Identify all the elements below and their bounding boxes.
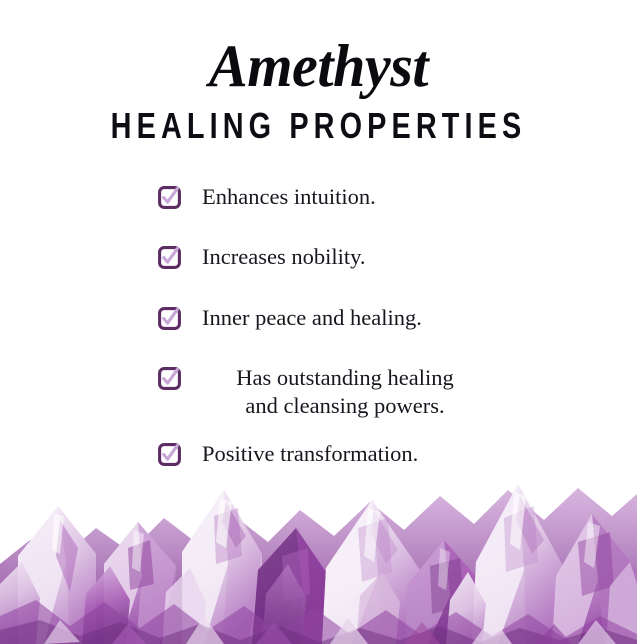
list-item-label: Inner peace and healing. xyxy=(181,304,578,331)
checked-checkbox-icon xyxy=(158,246,181,269)
healing-properties-list: Enhances intuition. Increases nobility. … xyxy=(158,183,578,468)
amethyst-crystal-cluster-image xyxy=(0,444,637,644)
crystal-point-left xyxy=(18,506,96,644)
crystal-point-7 xyxy=(472,484,562,644)
list-item-label: Enhances intuition. xyxy=(181,183,578,210)
list-item-label: Has outstanding healing and cleansing po… xyxy=(181,364,495,419)
checked-checkbox-icon xyxy=(158,186,181,209)
checked-checkbox-icon xyxy=(158,443,181,466)
crystal-lower-facets xyxy=(0,600,637,644)
amethyst-healing-properties-poster: Amethyst HEALING PROPERTIES Enhances int… xyxy=(0,0,637,644)
list-item: Inner peace and healing. xyxy=(158,304,578,331)
crystal-point-5 xyxy=(322,500,420,644)
crystal-highlights xyxy=(52,492,600,590)
poster-header: Amethyst HEALING PROPERTIES xyxy=(0,0,637,141)
page-title: Amethyst xyxy=(10,36,628,97)
page-subtitle: HEALING PROPERTIES xyxy=(22,105,614,147)
crystal-point-6 xyxy=(404,540,488,644)
crystal-point-8 xyxy=(552,514,637,644)
crystal-point-3 xyxy=(182,490,262,644)
checked-checkbox-icon xyxy=(158,307,181,330)
crystal-point-4 xyxy=(252,528,330,644)
list-item: Positive transformation. xyxy=(158,440,578,467)
crystal-base-mass xyxy=(0,488,637,644)
list-item: Enhances intuition. xyxy=(158,183,578,210)
list-item: Increases nobility. xyxy=(158,243,578,270)
checked-checkbox-icon xyxy=(158,367,181,390)
list-item-label: Increases nobility. xyxy=(181,243,578,270)
list-item: Has outstanding healing and cleansing po… xyxy=(158,364,578,419)
crystal-point-2 xyxy=(104,522,176,644)
list-item-label: Positive transformation. xyxy=(181,440,578,467)
crystal-svg xyxy=(0,444,637,644)
crystal-small-tips xyxy=(0,562,637,644)
